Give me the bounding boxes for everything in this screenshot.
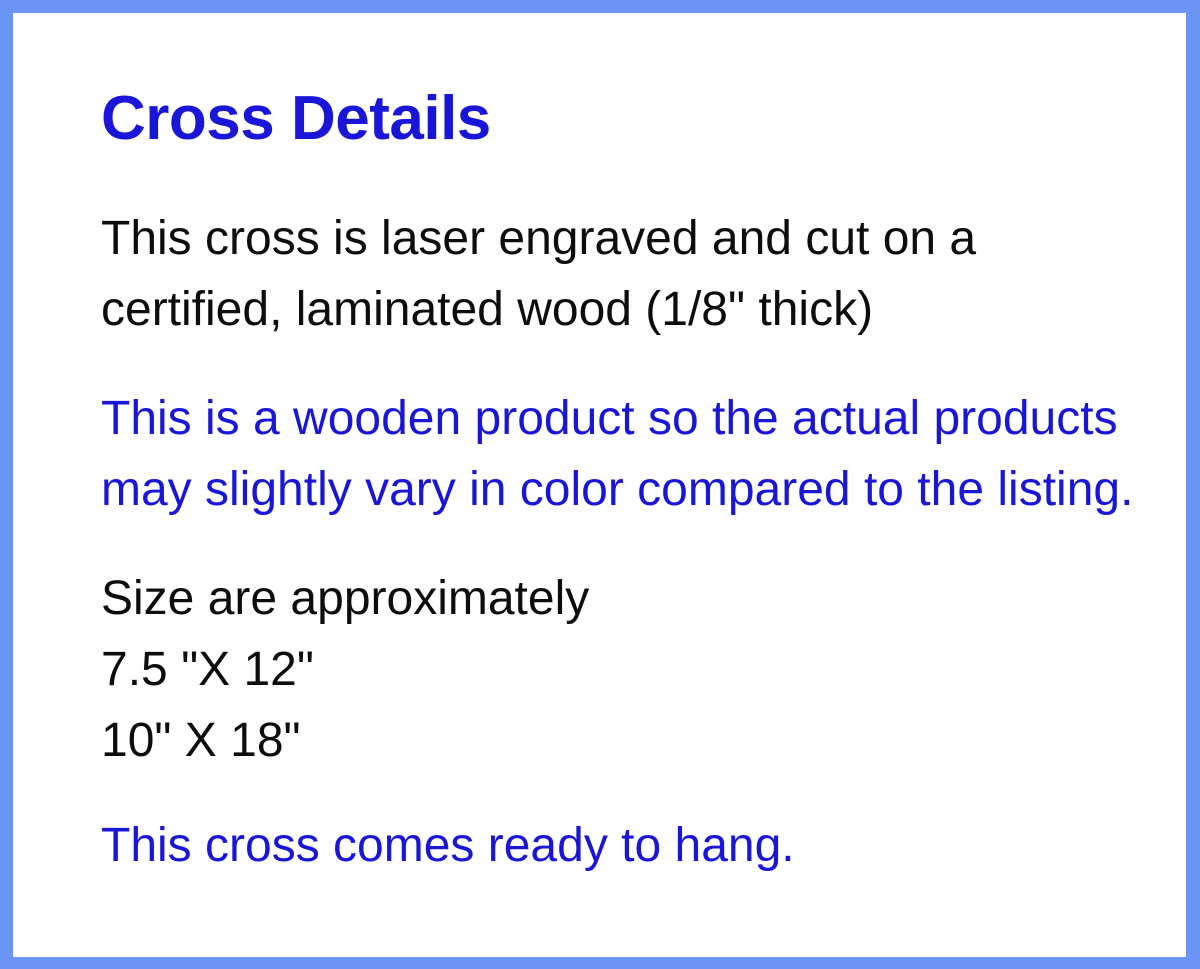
card-inner-surface: Cross Details This cross is laser engrav… [13, 13, 1186, 957]
spacer-after-sizes [101, 776, 1182, 810]
description-paragraph: This cross is laser engraved and cut on … [101, 203, 1101, 345]
description-line-1: This cross is laser engraved and cut on … [101, 203, 1101, 274]
content-wrapper: Cross Details This cross is laser engrav… [101, 85, 1182, 881]
description-line-2: certified, laminated wood (1/8" thick) [101, 274, 1101, 345]
sizes-paragraph: Size are approximately 7.5 "X 12" 10" X … [101, 563, 801, 776]
variance-notice-line-2: may slightly vary in color compared to t… [101, 454, 1182, 525]
page-title: Cross Details [101, 85, 1182, 153]
spacer-after-variance-notice [101, 525, 1182, 563]
spacer-after-description [101, 345, 1182, 383]
variance-notice-line-1: This is a wooden product so the actual p… [101, 383, 1182, 454]
hanging-notice-text: This cross comes ready to hang. [101, 810, 1001, 881]
hanging-notice-paragraph: This cross comes ready to hang. [101, 810, 1001, 881]
product-info-card: Cross Details This cross is laser engrav… [0, 0, 1200, 969]
variance-notice-paragraph: This is a wooden product so the actual p… [101, 383, 1182, 525]
size-option-1: 7.5 "X 12" [101, 634, 801, 705]
sizes-label: Size are approximately [101, 563, 801, 634]
spacer-after-title [101, 153, 1182, 203]
size-option-2: 10" X 18" [101, 705, 801, 776]
